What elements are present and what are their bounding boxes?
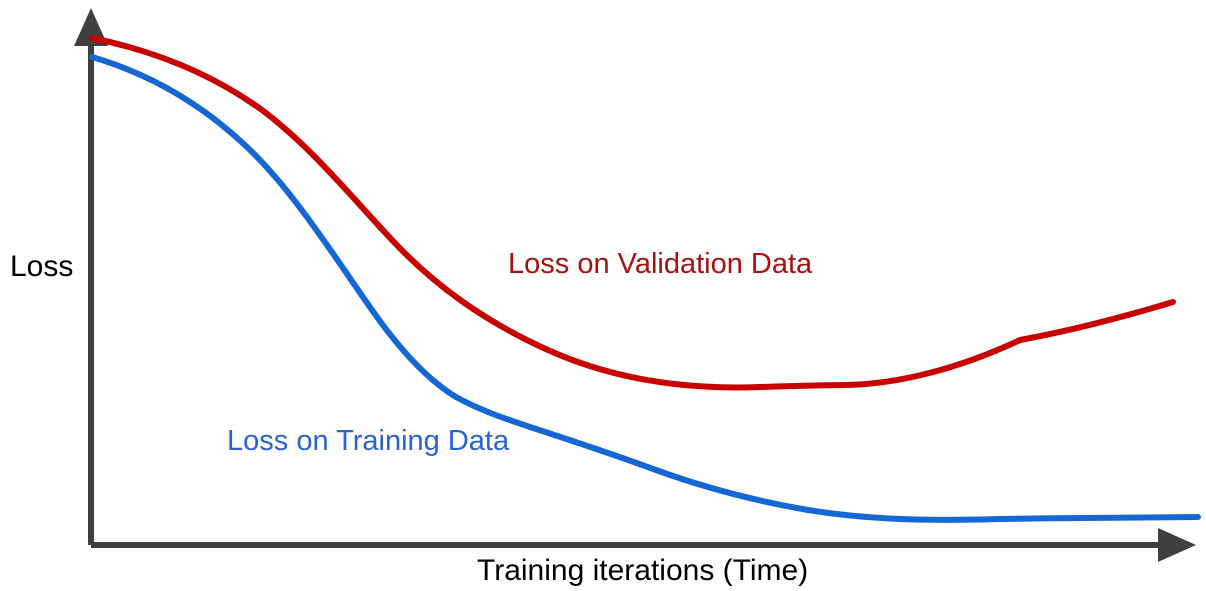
validation-loss-curve: [92, 38, 1173, 387]
training-series-annotation: Loss on Training Data: [227, 427, 509, 456]
y-axis-label: Loss: [10, 252, 73, 282]
chart-canvas: [0, 0, 1206, 591]
x-axis-arrow-icon: [1158, 528, 1196, 562]
loss-curve-chart: Loss Training iterations (Time) Loss on …: [0, 0, 1206, 591]
validation-series-annotation: Loss on Validation Data: [508, 250, 812, 279]
x-axis-label: Training iterations (Time): [477, 556, 808, 586]
